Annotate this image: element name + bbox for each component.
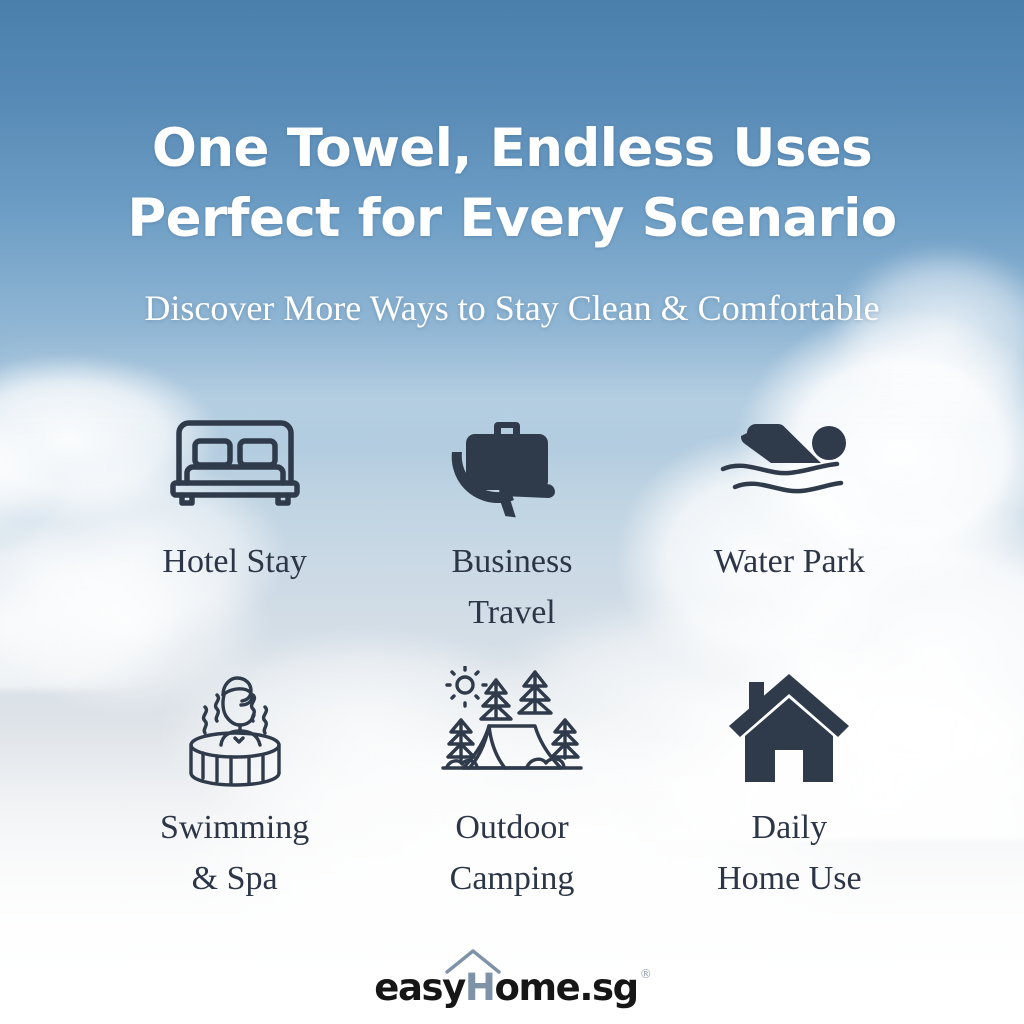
scenario-item-business-travel[interactable]: Business Travel <box>373 404 650 638</box>
scenario-item-daily-home-use[interactable]: Daily Home Use <box>651 664 928 904</box>
page-subtitle: Discover More Ways to Stay Clean & Comfo… <box>0 287 1024 330</box>
scenario-grid: Hotel Stay <box>96 404 928 904</box>
scenario-item-outdoor-camping[interactable]: Outdoor Camping <box>373 664 650 904</box>
scenario-item-hotel-stay[interactable]: Hotel Stay <box>96 404 373 638</box>
scenario-label: Outdoor Camping <box>450 802 575 904</box>
brand-logo[interactable]: easy H ome.sg ® <box>0 969 1024 1006</box>
bed-icon <box>165 404 305 522</box>
scenario-label: Swimming & Spa <box>160 802 309 904</box>
hot-tub-icon <box>173 664 297 788</box>
scenario-label: Business Travel <box>452 536 573 638</box>
logo-text-easy: easy <box>374 969 465 1006</box>
headline-line-1: One Towel, Endless Uses <box>0 114 1024 184</box>
scenario-label: Hotel Stay <box>162 536 306 587</box>
page-title: One Towel, Endless Uses Perfect for Ever… <box>0 114 1024 254</box>
swimmer-icon <box>717 404 861 522</box>
logo-text-rest: ome.sg <box>494 969 637 1006</box>
scenario-item-swimming-spa[interactable]: Swimming & Spa <box>96 664 373 904</box>
headline-line-2: Perfect for Every Scenario <box>0 184 1024 254</box>
tent-forest-icon <box>439 664 585 788</box>
logo-text-h: H <box>465 969 495 1006</box>
scenario-item-water-park[interactable]: Water Park <box>651 404 928 638</box>
poster-content: One Towel, Endless Uses Perfect for Ever… <box>0 0 1024 1024</box>
poster-canvas: One Towel, Endless Uses Perfect for Ever… <box>0 0 1024 1024</box>
scenario-label: Daily Home Use <box>717 802 861 904</box>
scenario-label: Water Park <box>714 536 865 587</box>
briefcase-airplane-icon <box>444 404 580 522</box>
house-icon <box>727 664 851 788</box>
house-roof-icon <box>444 948 502 974</box>
registered-trademark-icon: ® <box>640 968 652 980</box>
